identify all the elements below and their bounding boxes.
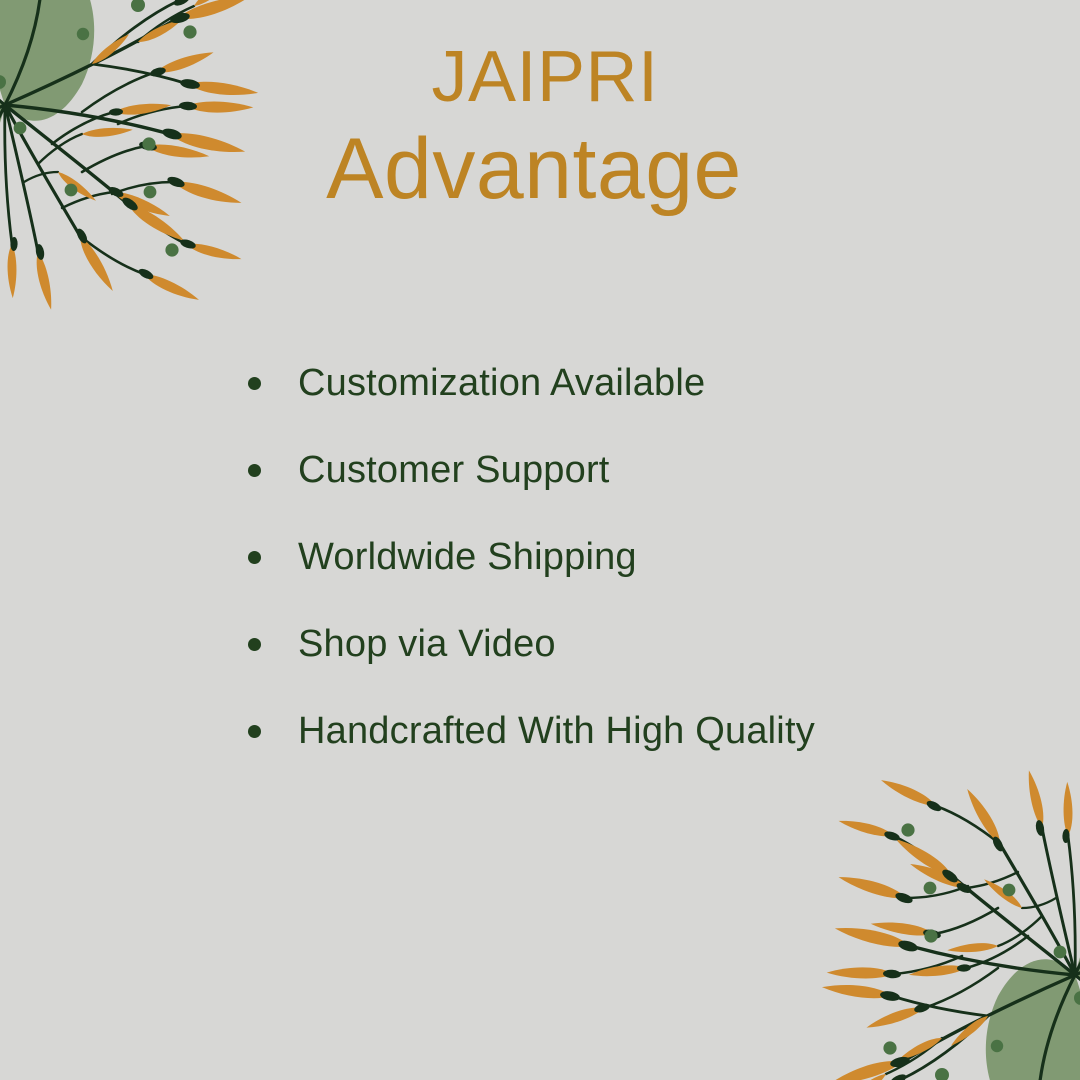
advantage-feature-list: Customization Available Customer Support… [248, 340, 1038, 775]
list-item-label: Shop via Video [298, 623, 556, 666]
berry-dots [883, 823, 1080, 1080]
bullet-dot-icon [248, 638, 261, 651]
list-item: Customization Available [248, 340, 1038, 427]
list-item: Customer Support [248, 427, 1038, 514]
list-item-label: Worldwide Shipping [298, 536, 637, 579]
poster-canvas: JAIPRI Advantage Customization Available… [0, 0, 1080, 1080]
list-item: Worldwide Shipping [248, 514, 1038, 601]
bullet-dot-icon [248, 551, 261, 564]
botanical-branch-bottom-right-icon [738, 728, 1080, 1080]
page-title: JAIPRI Advantage [0, 40, 1080, 214]
bullet-dot-icon [248, 725, 261, 738]
title-subtitle: Advantage [0, 125, 1080, 214]
list-item-label: Customer Support [298, 449, 610, 492]
bullet-dot-icon [248, 464, 261, 477]
list-item-label: Customization Available [298, 362, 705, 405]
list-item: Handcrafted With High Quality [248, 688, 1038, 775]
list-item: Shop via Video [248, 601, 1038, 688]
bullet-dot-icon [248, 377, 261, 390]
foliage-leaves [986, 840, 1080, 1080]
brand-name: JAIPRI [10, 40, 1080, 115]
list-item-label: Handcrafted With High Quality [298, 710, 815, 753]
